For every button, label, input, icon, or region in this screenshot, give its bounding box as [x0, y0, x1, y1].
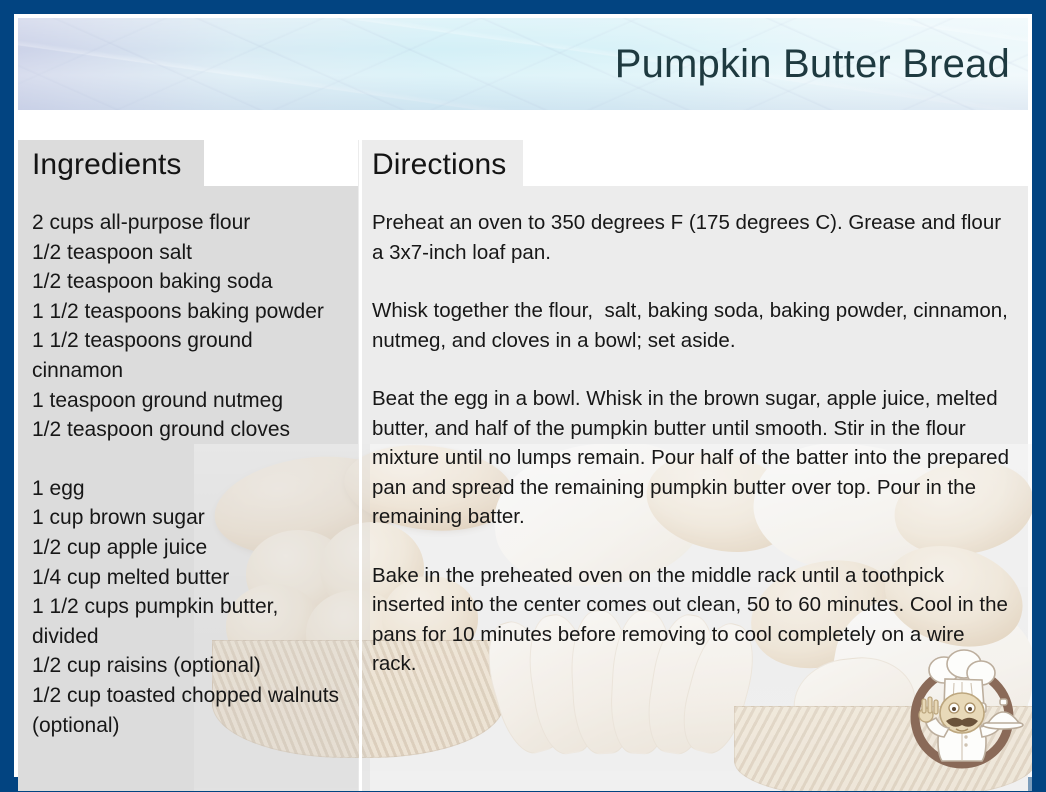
- list-item: 1/2 teaspoon baking soda: [32, 267, 345, 297]
- ingredients-group-wet: 1 egg 1 cup brown sugar 1/2 cup apple ju…: [32, 474, 345, 740]
- header-banner: Pumpkin Butter Bread: [18, 18, 1028, 110]
- ingredients-heading: Ingredients: [18, 140, 204, 186]
- list-item: 1/2 teaspoon ground cloves: [32, 415, 345, 445]
- column-divider: [359, 140, 362, 791]
- list-item: 1 1/2 teaspoons baking powder: [32, 297, 345, 327]
- direction-step: Preheat an oven to 350 degrees F (175 de…: [372, 208, 1014, 267]
- list-item: 1 cup brown sugar: [32, 503, 345, 533]
- list-item: 1/2 cup toasted chopped walnuts (optiona…: [32, 681, 345, 740]
- directions-text: Preheat an oven to 350 degrees F (175 de…: [372, 208, 1014, 679]
- list-item: 1/2 teaspoon salt: [32, 238, 345, 268]
- ingredients-group-dry: 2 cups all-purpose flour 1/2 teaspoon sa…: [32, 208, 345, 445]
- ingredients-panel: 2 cups all-purpose flour 1/2 teaspoon sa…: [18, 186, 359, 791]
- list-item: 1/4 cup melted butter: [32, 563, 345, 593]
- direction-step: Beat the egg in a bowl. Whisk in the bro…: [372, 384, 1014, 532]
- directions-heading: Directions: [358, 140, 523, 186]
- list-item: 1 1/2 cups pumpkin butter, divided: [32, 592, 345, 651]
- chef-mascot-logo: [898, 645, 1026, 773]
- list-item: 1/2 cup raisins (optional): [32, 651, 345, 681]
- list-item: 1 1/2 teaspoons ground cinnamon: [32, 326, 345, 385]
- page-title: Pumpkin Butter Bread: [615, 43, 1010, 85]
- direction-step: Whisk together the flour, salt, baking s…: [372, 296, 1014, 355]
- ingredients-column: Ingredients 2 cups all-purpose flour 1/2…: [18, 140, 359, 791]
- ingredients-list: 2 cups all-purpose flour 1/2 teaspoon sa…: [32, 208, 345, 740]
- list-item: 1/2 cup apple juice: [32, 533, 345, 563]
- list-item: 1 teaspoon ground nutmeg: [32, 386, 345, 416]
- list-item: 1 egg: [32, 474, 345, 504]
- recipe-slide: Pumpkin Butter Bread: [0, 0, 1046, 792]
- list-item: 2 cups all-purpose flour: [32, 208, 345, 238]
- slide-content-area: Pumpkin Butter Bread: [14, 14, 1032, 777]
